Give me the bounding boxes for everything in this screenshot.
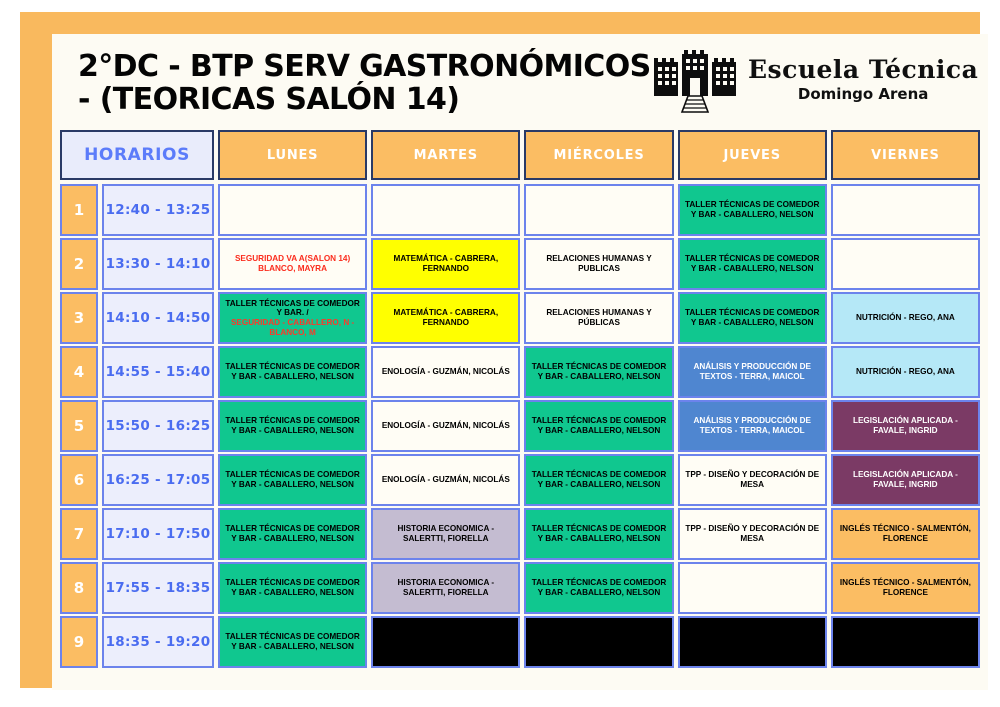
decorative-orange-frame: 2°DC - BTP SERV GASTRONÓMICOS - (TEORICA… [20,12,980,688]
schedule-cell[interactable] [678,562,827,614]
subject-label: LEGISLACIÓN APLICADA - FAVALE, INGRID [853,416,958,435]
period-number: 6 [60,454,98,506]
period-number: 3 [60,292,98,344]
subject-label: ANÁLISIS Y PRODUCCIÓN DE TEXTOS - TERRA,… [693,416,811,435]
column-header-miercoles: MIÉRCOLES [524,130,673,180]
subject-label: TALLER TÉCNICAS DE COMEDOR Y BAR - CABAL… [685,308,820,327]
schedule-cell[interactable] [371,184,520,236]
schedule-cell[interactable]: TALLER TÉCNICAS DE COMEDOR Y BAR - CABAL… [524,346,673,398]
table-body: 112:40 - 13:25TALLER TÉCNICAS DE COMEDOR… [60,184,980,668]
schedule-cell[interactable]: MATEMÁTICA - CABRERA, FERNANDO [371,238,520,290]
period-number: 5 [60,400,98,452]
schedule-cell[interactable]: TALLER TÉCNICAS DE COMEDOR Y BAR. /SEGUR… [218,292,367,344]
page-header: 2°DC - BTP SERV GASTRONÓMICOS - (TEORICA… [52,34,988,126]
column-header-lunes: LUNES [218,130,367,180]
schedule-cell[interactable] [678,616,827,668]
schedule-cell[interactable] [524,616,673,668]
subject-label: ENOLOGÍA - GUZMÁN, NICOLÁS [382,475,510,484]
table-row: 314:10 - 14:50TALLER TÉCNICAS DE COMEDOR… [60,292,980,344]
subject-label: TALLER TÉCNICAS DE COMEDOR Y BAR - CABAL… [532,524,667,543]
schedule-cell[interactable]: LEGISLACIÓN APLICADA - FAVALE, INGRID [831,454,980,506]
schedule-cell[interactable] [371,616,520,668]
period-time: 14:55 - 15:40 [102,346,214,398]
subject-label: TALLER TÉCNICAS DE COMEDOR Y BAR - CABAL… [532,578,667,597]
subject-label: ANÁLISIS Y PRODUCCIÓN DE TEXTOS - TERRA,… [693,362,811,381]
table-row: 112:40 - 13:25TALLER TÉCNICAS DE COMEDOR… [60,184,980,236]
subject-label: MATEMÁTICA - CABRERA, FERNANDO [394,308,499,327]
subject-label: SEGURIDAD VA A(SALON 14) BLANCO, MAYRA [235,254,350,273]
schedule-cell[interactable]: TALLER TÉCNICAS DE COMEDOR Y BAR - CABAL… [524,454,673,506]
period-number: 2 [60,238,98,290]
schedule-cell[interactable]: TALLER TÉCNICAS DE COMEDOR Y BAR - CABAL… [678,238,827,290]
subject-label: LEGISLACIÓN APLICADA - FAVALE, INGRID [853,470,958,489]
period-number: 7 [60,508,98,560]
schedule-cell[interactable]: ANÁLISIS Y PRODUCCIÓN DE TEXTOS - TERRA,… [678,400,827,452]
column-header-viernes: VIERNES [831,130,980,180]
subject-label-secondary: SEGURIDAD - CABALLERO, N - BLANCO, M [223,318,362,337]
page-title: 2°DC - BTP SERV GASTRONÓMICOS - (TEORICA… [78,50,658,116]
subject-label: TPP - DISEÑO Y DECORACIÓN DE MESA [685,470,819,489]
period-time: 17:10 - 17:50 [102,508,214,560]
schedule-cell[interactable]: LEGISLACIÓN APLICADA - FAVALE, INGRID [831,400,980,452]
subject-label: RELACIONES HUMANAS Y PÚBLICAS [546,308,651,327]
schedule-cell[interactable]: TPP - DISEÑO Y DECORACIÓN DE MESA [678,454,827,506]
subject-label: TALLER TÉCNICAS DE COMEDOR Y BAR - CABAL… [532,470,667,489]
subject-label: TALLER TÉCNICAS DE COMEDOR Y BAR - CABAL… [532,362,667,381]
period-time: 12:40 - 13:25 [102,184,214,236]
subject-label: NUTRICIÓN - REGO, ANA [856,313,955,322]
schedule-cell[interactable]: HISTORIA ECONOMICA - SALERTTI, FIORELLA [371,508,520,560]
schedule-cell[interactable]: ANÁLISIS Y PRODUCCIÓN DE TEXTOS - TERRA,… [678,346,827,398]
table-row: 515:50 - 16:25TALLER TÉCNICAS DE COMEDOR… [60,400,980,452]
schedule-cell[interactable]: ENOLOGÍA - GUZMÁN, NICOLÁS [371,346,520,398]
period-time: 17:55 - 18:35 [102,562,214,614]
timetable-page: 2°DC - BTP SERV GASTRONÓMICOS - (TEORICA… [0,0,1000,707]
page-title-line-1: 2°DC - BTP SERV GASTRONÓMICOS [78,50,658,83]
column-header-jueves: JUEVES [678,130,827,180]
schedule-cell[interactable]: TALLER TÉCNICAS DE COMEDOR Y BAR - CABAL… [524,508,673,560]
school-building-icon [652,48,738,114]
schedule-cell[interactable]: MATEMÁTICA - CABRERA, FERNANDO [371,292,520,344]
schedule-cell[interactable]: TALLER TÉCNICAS DE COMEDOR Y BAR - CABAL… [678,184,827,236]
schedule-cell[interactable]: RELACIONES HUMANAS Y PÚBLICAS [524,292,673,344]
subject-label: TALLER TÉCNICAS DE COMEDOR Y BAR - CABAL… [225,470,360,489]
schedule-cell[interactable]: INGLÉS TÉCNICO - SALMENTÓN, FLORENCE [831,508,980,560]
period-time: 15:50 - 16:25 [102,400,214,452]
subject-label: TALLER TÉCNICAS DE COMEDOR Y BAR - CABAL… [225,524,360,543]
subject-label: NUTRICIÓN - REGO, ANA [856,367,955,376]
timetable-canvas: 2°DC - BTP SERV GASTRONÓMICOS - (TEORICA… [52,34,988,690]
schedule-cell[interactable]: INGLÉS TÉCNICO - SALMENTÓN, FLORENCE [831,562,980,614]
school-name: Escuela Técnica [748,56,978,83]
subject-label: HISTORIA ECONOMICA - SALERTTI, FIORELLA [398,578,495,597]
page-title-line-2: - (TEORICAS SALÓN 14) [78,83,658,116]
schedule-cell[interactable] [831,238,980,290]
schedule-cell[interactable]: TALLER TÉCNICAS DE COMEDOR Y BAR - CABAL… [218,400,367,452]
subject-label: INGLÉS TÉCNICO - SALMENTÓN, FLORENCE [840,524,971,543]
table-row: 213:30 - 14:10SEGURIDAD VA A(SALON 14) B… [60,238,980,290]
subject-label: ENOLOGÍA - GUZMÁN, NICOLÁS [382,421,510,430]
subject-label: TALLER TÉCNICAS DE COMEDOR Y BAR - CABAL… [225,362,360,381]
subject-label: INGLÉS TÉCNICO - SALMENTÓN, FLORENCE [840,578,971,597]
subject-label: MATEMÁTICA - CABRERA, FERNANDO [394,254,499,273]
table-header-row: HORARIOS LUNES MARTES MIÉRCOLES JUEVES V… [60,130,980,180]
school-brand: Escuela Técnica Domingo Arena [652,48,978,114]
schedule-cell[interactable]: TALLER TÉCNICAS DE COMEDOR Y BAR - CABAL… [678,292,827,344]
subject-label: TALLER TÉCNICAS DE COMEDOR Y BAR - CABAL… [225,578,360,597]
subject-label: TALLER TÉCNICAS DE COMEDOR Y BAR - CABAL… [532,416,667,435]
schedule-cell[interactable] [831,184,980,236]
schedule-cell[interactable]: TALLER TÉCNICAS DE COMEDOR Y BAR - CABAL… [218,508,367,560]
schedule-cell[interactable]: TALLER TÉCNICAS DE COMEDOR Y BAR - CABAL… [218,454,367,506]
period-time: 16:25 - 17:05 [102,454,214,506]
schedule-cell[interactable]: SEGURIDAD VA A(SALON 14) BLANCO, MAYRA [218,238,367,290]
table-row: 414:55 - 15:40TALLER TÉCNICAS DE COMEDOR… [60,346,980,398]
period-time: 14:10 - 14:50 [102,292,214,344]
schedule-cell[interactable] [218,184,367,236]
period-time: 13:30 - 14:10 [102,238,214,290]
schedule-cell[interactable] [524,184,673,236]
column-header-martes: MARTES [371,130,520,180]
subject-label: TALLER TÉCNICAS DE COMEDOR Y BAR - CABAL… [225,416,360,435]
table-row: 616:25 - 17:05TALLER TÉCNICAS DE COMEDOR… [60,454,980,506]
subject-label: TALLER TÉCNICAS DE COMEDOR Y BAR - CABAL… [685,254,820,273]
schedule-cell[interactable]: RELACIONES HUMANAS Y PUBLICAS [524,238,673,290]
period-number: 1 [60,184,98,236]
subject-label: TALLER TÉCNICAS DE COMEDOR Y BAR - CABAL… [225,632,360,651]
subject-label: TPP - DISEÑO Y DECORACIÓN DE MESA [685,524,819,543]
subject-label: ENOLOGÍA - GUZMÁN, NICOLÁS [382,367,510,376]
schedule-cell[interactable]: NUTRICIÓN - REGO, ANA [831,292,980,344]
subject-label: TALLER TÉCNICAS DE COMEDOR Y BAR. / [225,299,360,318]
schedule-cell[interactable]: HISTORIA ECONOMICA - SALERTTI, FIORELLA [371,562,520,614]
subject-label: HISTORIA ECONOMICA - SALERTTI, FIORELLA [398,524,495,543]
schedule-cell[interactable]: TALLER TÉCNICAS DE COMEDOR Y BAR - CABAL… [218,346,367,398]
schedule-cell[interactable] [831,616,980,668]
timetable-grid: HORARIOS LUNES MARTES MIÉRCOLES JUEVES V… [60,130,980,670]
schedule-cell[interactable]: TPP - DISEÑO Y DECORACIÓN DE MESA [678,508,827,560]
schedule-cell[interactable]: ENOLOGÍA - GUZMÁN, NICOLÁS [371,400,520,452]
subject-label: RELACIONES HUMANAS Y PUBLICAS [546,254,651,273]
schedule-cell[interactable]: TALLER TÉCNICAS DE COMEDOR Y BAR - CABAL… [524,562,673,614]
school-name-block: Escuela Técnica Domingo Arena [748,48,978,103]
column-header-horarios: HORARIOS [60,130,214,180]
period-number: 8 [60,562,98,614]
subject-label: TALLER TÉCNICAS DE COMEDOR Y BAR - CABAL… [685,200,820,219]
period-time: 18:35 - 19:20 [102,616,214,668]
schedule-cell[interactable]: TALLER TÉCNICAS DE COMEDOR Y BAR - CABAL… [524,400,673,452]
table-row: 817:55 - 18:35TALLER TÉCNICAS DE COMEDOR… [60,562,980,614]
schedule-cell[interactable]: TALLER TÉCNICAS DE COMEDOR Y BAR - CABAL… [218,562,367,614]
table-row: 918:35 - 19:20TALLER TÉCNICAS DE COMEDOR… [60,616,980,668]
table-row: 717:10 - 17:50TALLER TÉCNICAS DE COMEDOR… [60,508,980,560]
schedule-cell[interactable]: ENOLOGÍA - GUZMÁN, NICOLÁS [371,454,520,506]
period-number: 4 [60,346,98,398]
period-number: 9 [60,616,98,668]
schedule-cell[interactable]: TALLER TÉCNICAS DE COMEDOR Y BAR - CABAL… [218,616,367,668]
school-subname: Domingo Arena [748,85,978,103]
schedule-cell[interactable]: NUTRICIÓN - REGO, ANA [831,346,980,398]
